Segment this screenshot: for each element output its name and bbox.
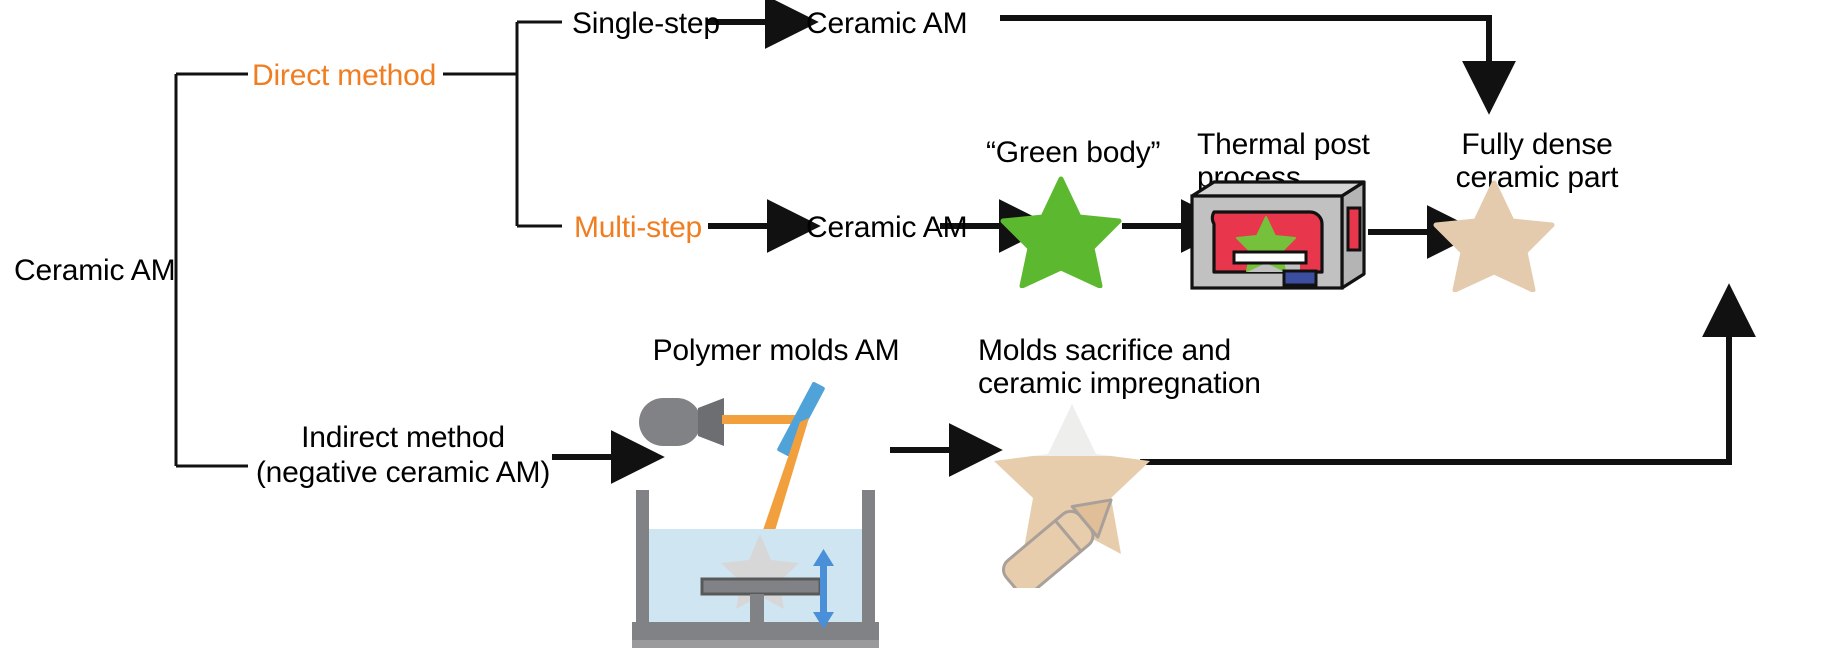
branch-single-step: Single-step: [572, 6, 720, 41]
branch-direct-method: Direct method: [252, 58, 436, 93]
root-branch-lines: [176, 74, 248, 466]
branch-indirect-method-line1: Indirect method: [258, 420, 548, 455]
stage-polymer-molds-label: Polymer molds AM: [636, 333, 916, 368]
direct-branch-lines: [443, 22, 562, 226]
impregnated-star-icon: [952, 398, 1192, 588]
tan-star-icon: [1433, 180, 1555, 292]
branch-indirect-method-line2: (negative ceramic AM): [232, 455, 574, 490]
stage-molds-sacrifice-line1: Molds sacrifice and: [978, 333, 1231, 368]
furnace-icon: [1188, 178, 1368, 292]
root-label: Ceramic AM: [14, 253, 175, 288]
stage-multi-step-output: Ceramic AM: [806, 210, 967, 245]
stage-molds-sacrifice-line2: ceramic impregnation: [978, 366, 1261, 401]
stage-green-body-label: “Green body”: [986, 135, 1141, 170]
sla-printer-icon: [632, 382, 898, 669]
arrow-single-step-bypass-to-final-part: [1000, 18, 1489, 62]
stage-single-step-output: Ceramic AM: [806, 6, 967, 41]
branch-multi-step: Multi-step: [574, 210, 702, 245]
stage-thermal-post-line1: Thermal post: [1197, 127, 1370, 162]
ceramic-am-flow-diagram: Ceramic AM Direct method Indirect method…: [0, 0, 1831, 669]
green-star-icon: [1000, 176, 1122, 288]
stage-final-part-line1: Fully dense: [1422, 127, 1652, 162]
